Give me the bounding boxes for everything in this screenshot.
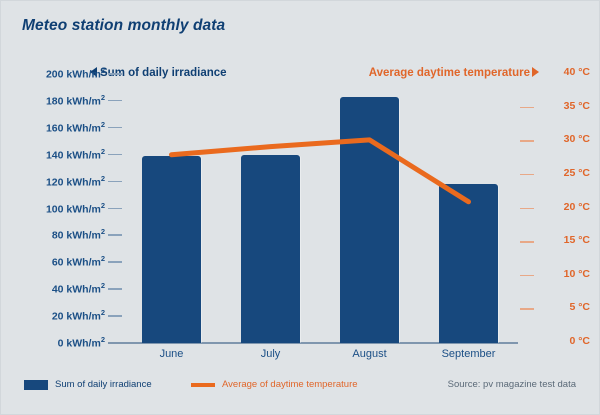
line-swatch-icon xyxy=(191,383,215,387)
x-axis-label-september: September xyxy=(419,348,519,360)
temperature-polyline xyxy=(172,140,469,202)
chart-card: Meteo station monthly data Sum of daily … xyxy=(0,0,600,415)
x-axis-label-august: August xyxy=(320,348,420,360)
legend: Sum of daily irradiance Average of dayti… xyxy=(0,375,600,399)
x-axis-label-june: June xyxy=(122,348,222,360)
x-axis-label-july: July xyxy=(221,348,321,360)
legend-item-irradiance: Sum of daily irradiance xyxy=(24,379,152,390)
legend-item-temperature: Average of daytime temperature xyxy=(191,379,358,390)
legend-label-temperature: Average of daytime temperature xyxy=(222,379,358,390)
plot-area: Sum of daily irradiance Average daytime … xyxy=(0,0,600,415)
legend-label-irradiance: Sum of daily irradiance xyxy=(55,379,152,390)
bar-swatch-icon xyxy=(24,380,48,390)
source-note: Source: pv magazine test data xyxy=(448,379,576,390)
